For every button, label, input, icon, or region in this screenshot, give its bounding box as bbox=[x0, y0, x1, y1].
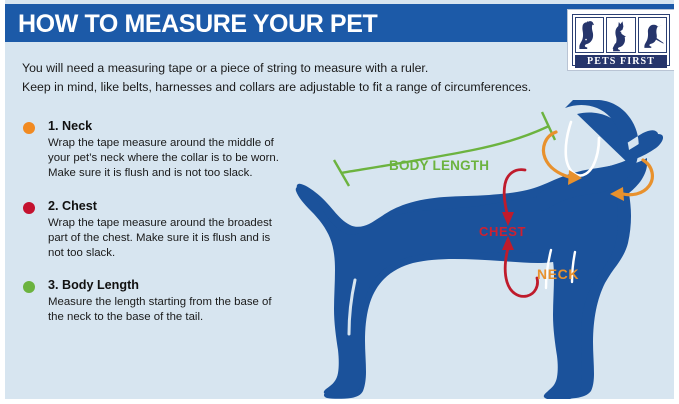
step-body-body-length: Measure the length starting from the bas… bbox=[48, 295, 286, 325]
bullet-icon-chest bbox=[23, 202, 35, 214]
label-body-length: BODY LENGTH bbox=[389, 158, 489, 173]
intro-text: You will need a measuring tape or a piec… bbox=[22, 59, 612, 97]
step-body-chest: Wrap the tape measure around the broades… bbox=[48, 216, 286, 262]
logo-dog-row bbox=[575, 17, 667, 53]
list-item: 1. Neck Wrap the tape measure around the… bbox=[21, 118, 286, 182]
intro-line-1: You will need a measuring tape or a piec… bbox=[22, 59, 612, 78]
body-length-measure-line bbox=[334, 112, 555, 186]
dog-body-main bbox=[296, 187, 618, 401]
intro-line-2: Keep in mind, like belts, harnesses and … bbox=[22, 78, 612, 97]
step-title-chest: 2. Chest bbox=[48, 198, 286, 215]
list-item: 2. Chest Wrap the tape measure around th… bbox=[21, 198, 286, 262]
step-title-body-length: 3. Body Length bbox=[48, 277, 286, 294]
label-chest: CHEST bbox=[479, 224, 526, 239]
dog-measurement-diagram: BODY LENGTH NECK CHEST bbox=[293, 100, 679, 404]
bullet-icon-body-length bbox=[23, 281, 35, 293]
measurement-steps-list: 1. Neck Wrap the tape measure around the… bbox=[21, 118, 286, 342]
dog-sitting-icon bbox=[575, 17, 604, 53]
step-body-neck: Wrap the tape measure around the middle … bbox=[48, 136, 286, 182]
page-title: HOW TO MEASURE YOUR PET bbox=[18, 11, 377, 37]
infographic-page: HOW TO MEASURE YOUR PET bbox=[0, 0, 679, 404]
bullet-icon-neck bbox=[23, 122, 35, 134]
list-item: 3. Body Length Measure the length starti… bbox=[21, 277, 286, 325]
label-neck: NECK bbox=[537, 266, 579, 282]
dog-illustration bbox=[293, 100, 679, 404]
dog-howling-icon bbox=[638, 17, 667, 53]
step-title-neck: 1. Neck bbox=[48, 118, 286, 135]
dog-begging-icon bbox=[606, 17, 635, 53]
